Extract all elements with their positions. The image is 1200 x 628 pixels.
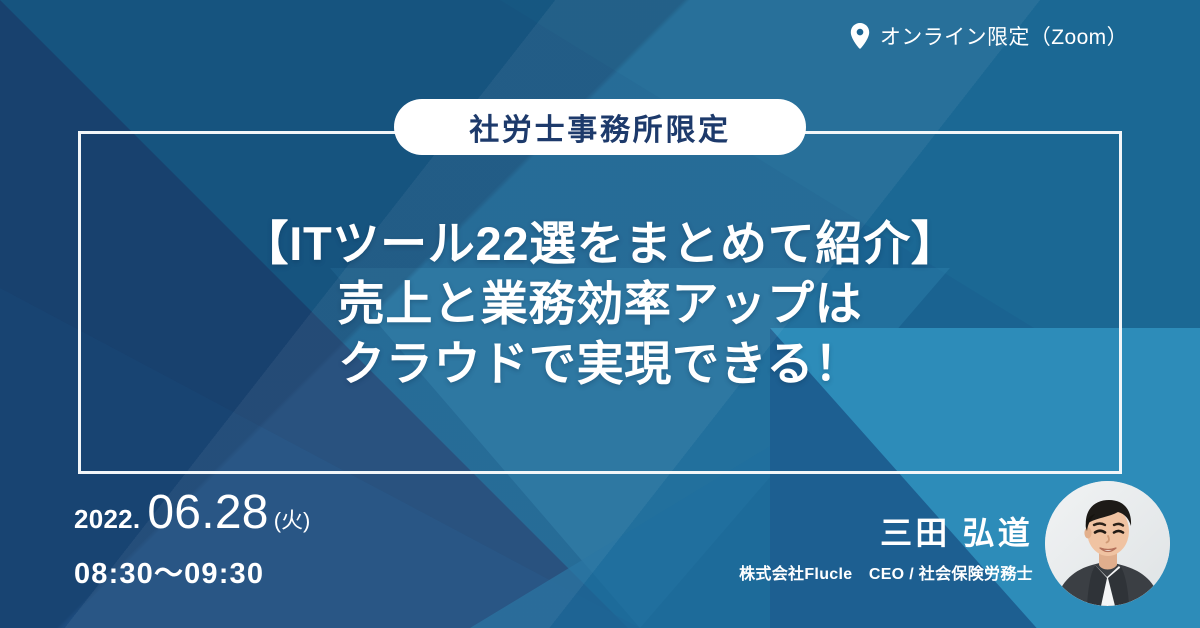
speaker-name: 三田 弘道 <box>739 516 1033 551</box>
date-weekday: (火) <box>274 510 311 532</box>
badge-label: 社労士事務所限定 <box>469 105 731 149</box>
date-day: 06.28 <box>147 489 268 537</box>
schedule-block: 2022. 06.28 (火) 08:30〜09:30 <box>74 489 310 592</box>
schedule-time: 08:30〜09:30 <box>74 550 310 592</box>
webinar-banner: オンライン限定（Zoom） 社労士事務所限定 【ITツール22選をまとめて紹介】… <box>0 0 1200 628</box>
headline-line-2: 売上と業務効率アップは <box>0 274 1200 334</box>
target-audience-badge: 社労士事務所限定 <box>394 99 806 155</box>
headline-line-3: クラウドで実現できる！ <box>0 334 1200 394</box>
speaker-text: 三田 弘道 株式会社Flucle CEO / 社会保険労務士 <box>739 516 1045 606</box>
headline-line-1: 【ITツール22選をまとめて紹介】 <box>0 214 1200 274</box>
map-pin-icon <box>850 23 870 49</box>
location-line: オンライン限定（Zoom） <box>850 21 1128 51</box>
date-year: 2022. <box>74 506 140 532</box>
date-row: 2022. 06.28 (火) <box>74 489 310 537</box>
location-text: オンライン限定（Zoom） <box>880 21 1128 51</box>
speaker-avatar <box>1045 481 1170 606</box>
headline: 【ITツール22選をまとめて紹介】 売上と業務効率アップは クラウドで実現できる… <box>0 214 1200 394</box>
speaker-block: 三田 弘道 株式会社Flucle CEO / 社会保険労務士 <box>739 481 1170 606</box>
speaker-role: 株式会社Flucle CEO / 社会保険労務士 <box>739 560 1033 584</box>
